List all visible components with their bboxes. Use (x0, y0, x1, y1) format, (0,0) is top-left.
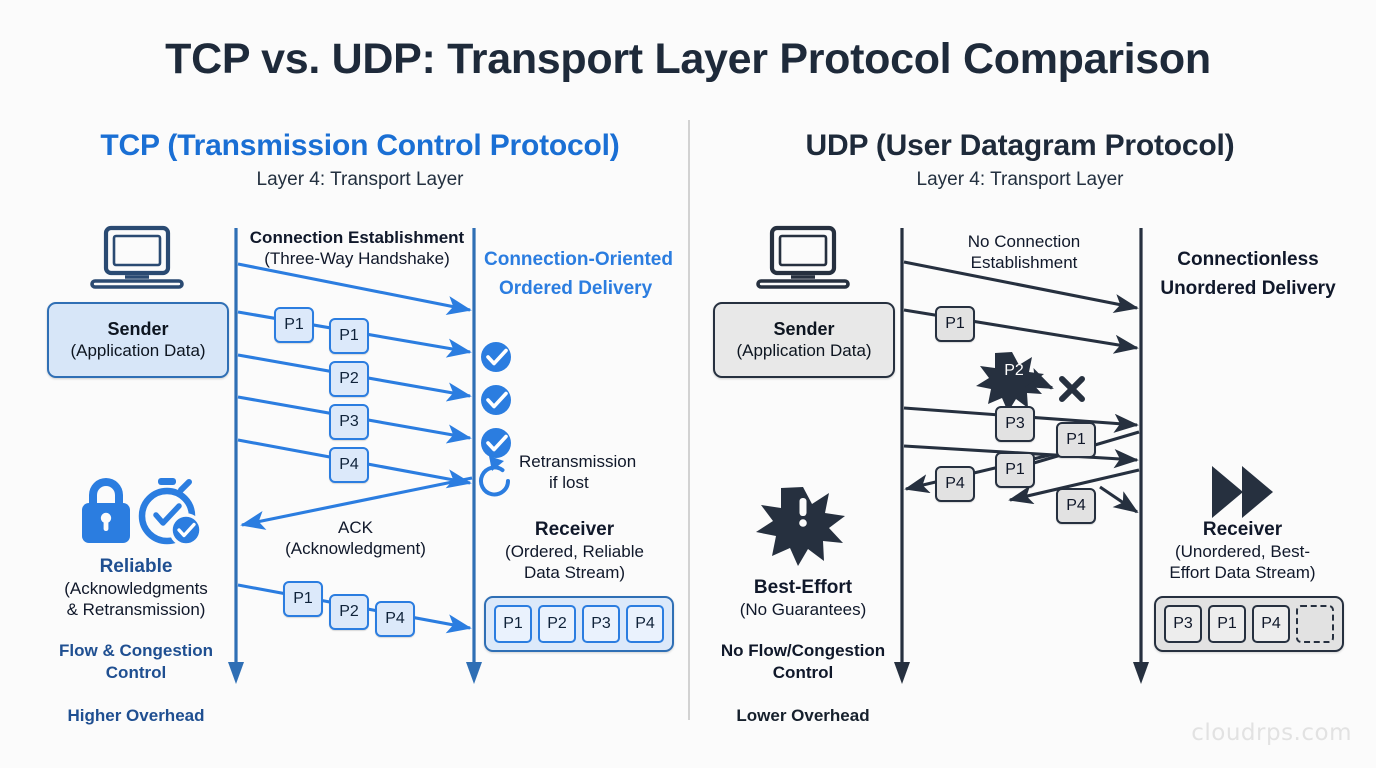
tcp-ack-check-2 (481, 385, 511, 415)
packet-loss-burst-icon (976, 352, 1044, 412)
udp-receiver-sub1: (Unordered, Best- (1140, 542, 1345, 562)
tcp-receiver-buffer: P1 P2 P3 P4 (484, 596, 674, 652)
tcp-ack-check-1 (481, 342, 511, 372)
udp-best-effort-title: Best-Effort (713, 577, 893, 599)
stopwatch-check-icon (142, 478, 201, 545)
tcp-flow-control-line1: Flow & Congestion (36, 641, 236, 661)
tcp-ack-line1: ACK (268, 518, 443, 538)
udp-overhead-label: Lower Overhead (703, 706, 903, 726)
udp-packet-chip: P1 (1056, 422, 1096, 458)
tcp-packet-chip: P3 (329, 404, 369, 440)
udp-packet-chip: P1 (935, 306, 975, 342)
tcp-ack-packet-chip: P1 (283, 581, 323, 617)
buffer-cell-empty (1296, 605, 1334, 643)
tcp-handshake-label-line2: (Three-Way Handshake) (248, 249, 466, 269)
tcp-ack-line2: (Acknowledgment) (268, 539, 443, 559)
udp-no-flow-line1: No Flow/Congestion (703, 641, 903, 661)
udp-packet-chip: P4 (1056, 488, 1096, 524)
diagram-canvas: TCP vs. UDP: Transport Layer Protocol Co… (0, 0, 1376, 768)
tcp-ack-packet-chip: P4 (375, 601, 415, 637)
tcp-reliable-line1: (Acknowledgments (31, 579, 241, 599)
fast-forward-icon (1212, 466, 1273, 518)
buffer-cell: P1 (1208, 605, 1246, 643)
udp-connectionless-label: Connectionless (1148, 249, 1348, 271)
udp-no-connection-line2: Establishment (915, 253, 1133, 273)
tcp-ack-packet-chip: P2 (329, 594, 369, 630)
tcp-sender-box: Sender (Application Data) (47, 302, 229, 378)
udp-packet-chip: P4 (935, 466, 975, 502)
udp-receiver-title: Receiver (1155, 519, 1330, 541)
udp-best-effort-sub: (No Guarantees) (703, 600, 903, 620)
burst-exclamation-icon (756, 487, 845, 566)
lock-icon (82, 478, 130, 543)
tcp-ack-check-3 (481, 428, 511, 458)
watermark: cloudrps.com (1191, 720, 1352, 746)
tcp-receiver-sub2: Data Stream) (477, 563, 672, 583)
buffer-cell: P4 (1252, 605, 1290, 643)
udp-unordered-delivery-label: Unordered Delivery (1140, 278, 1356, 300)
tcp-reliable-line2: & Retransmission) (31, 600, 241, 620)
udp-sender-title: Sender (773, 319, 834, 341)
udp-receiver-sub2: Effort Data Stream) (1140, 563, 1345, 583)
udp-no-flow-line2: Control (703, 663, 903, 683)
udp-laptop-icon (758, 228, 848, 287)
tcp-sender-title: Sender (107, 319, 168, 341)
buffer-cell: P2 (538, 605, 576, 643)
tcp-retransmission-line1: Retransmission (519, 452, 669, 472)
udp-packet-chip: P1 (995, 452, 1035, 488)
udp-sender-subtitle: (Application Data) (736, 341, 871, 361)
tcp-handshake-label-line1: Connection Establishment (248, 228, 466, 248)
tcp-receiver-title: Receiver (487, 519, 662, 541)
udp-sender-box: Sender (Application Data) (713, 302, 895, 378)
tcp-laptop-icon (92, 228, 182, 287)
tcp-reliable-title: Reliable (46, 556, 226, 578)
udp-packet-chip: P3 (995, 406, 1035, 442)
tcp-ordered-delivery-label: Ordered Delivery (499, 278, 699, 300)
tcp-receiver-lifeline (466, 228, 482, 684)
tcp-sender-subtitle: (Application Data) (70, 341, 205, 361)
tcp-flow-control-line2: Control (36, 663, 236, 683)
tcp-connection-oriented-label: Connection-Oriented (484, 249, 684, 271)
tcp-packet-chip: P1 (329, 318, 369, 354)
tcp-packet-chip: P4 (329, 447, 369, 483)
tcp-overhead-label: Higher Overhead (36, 706, 236, 726)
udp-receiver-buffer: P3 P1 P4 (1154, 596, 1344, 652)
tcp-packet-chip: P2 (329, 361, 369, 397)
retry-loop-icon (481, 456, 508, 494)
buffer-cell: P1 (494, 605, 532, 643)
buffer-cell: P3 (1164, 605, 1202, 643)
buffer-cell: P4 (626, 605, 664, 643)
udp-no-connection-line1: No Connection (915, 232, 1133, 252)
tcp-packet-chip: P1 (274, 307, 314, 343)
buffer-cell: P3 (582, 605, 620, 643)
udp-lost-packet-label: P2 (992, 362, 1036, 381)
x-mark-icon (1062, 379, 1082, 399)
tcp-retransmission-line2: if lost (549, 473, 669, 493)
tcp-receiver-sub1: (Ordered, Reliable (477, 542, 672, 562)
